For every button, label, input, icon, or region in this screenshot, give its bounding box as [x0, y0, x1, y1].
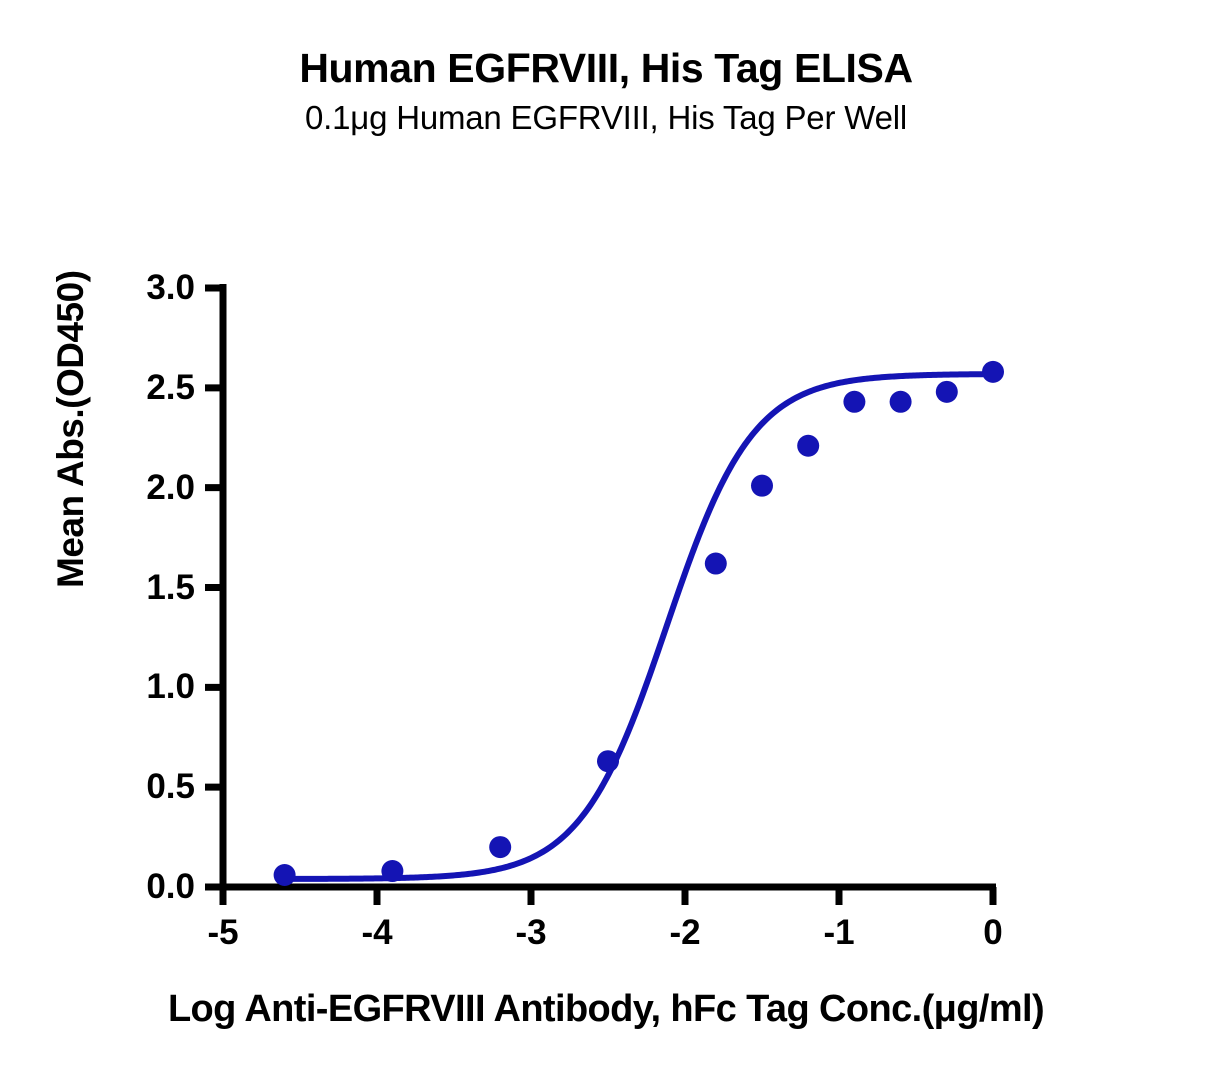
y-tick-label: 2.0 [0, 468, 195, 508]
data-point-marker [274, 864, 296, 886]
elisa-figure: Human EGFRVIII, His Tag ELISA 0.1μg Huma… [0, 0, 1212, 1087]
y-tick-label: 1.5 [0, 568, 195, 608]
data-points [274, 361, 1004, 886]
data-point-marker [890, 391, 912, 413]
data-point-marker [751, 475, 773, 497]
x-tick-label: -2 [669, 913, 700, 953]
y-tick-label: 0.0 [0, 867, 195, 907]
data-point-marker [843, 391, 865, 413]
fit-curve [285, 374, 993, 879]
x-tick-label: -5 [207, 913, 238, 953]
data-point-marker [936, 381, 958, 403]
x-tick-label: 0 [983, 913, 1002, 953]
data-point-marker [982, 361, 1004, 383]
y-axis-title: Mean Abs.(OD450) [50, 270, 92, 588]
data-point-marker [489, 836, 511, 858]
data-point-marker [381, 860, 403, 882]
y-tick-label: 2.5 [0, 368, 195, 408]
x-tick-label: -4 [361, 913, 392, 953]
data-point-marker [797, 435, 819, 457]
y-tick-label: 3.0 [0, 268, 195, 308]
x-tick-label: -1 [823, 913, 854, 953]
y-tick-label: 0.5 [0, 767, 195, 807]
x-axis-title: Log Anti-EGFRVIII Antibody, hFc Tag Conc… [0, 988, 1212, 1031]
x-tick-label: -3 [515, 913, 546, 953]
data-point-marker [597, 750, 619, 772]
axis-lines [219, 284, 996, 887]
plot-area [0, 0, 1212, 1087]
fit-curve-path [285, 374, 993, 879]
y-tick-label: 1.0 [0, 667, 195, 707]
data-point-marker [705, 553, 727, 575]
